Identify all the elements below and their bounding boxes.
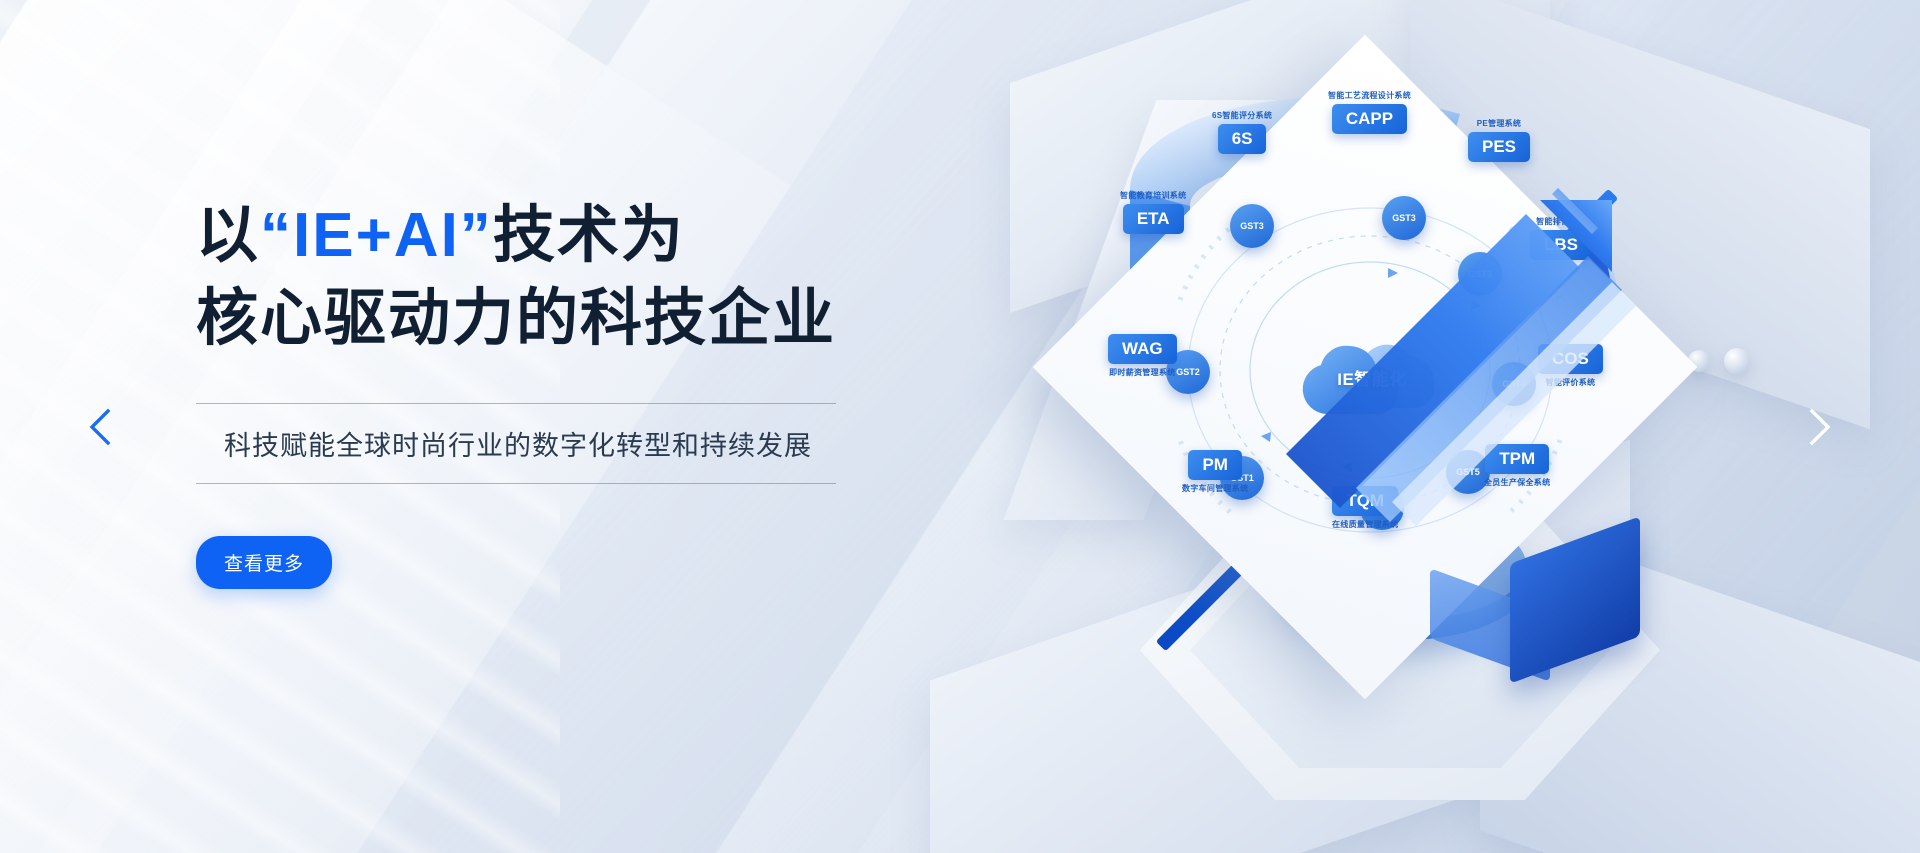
headline-accent: “IE+AI” [260, 201, 493, 270]
hero-content: 以“IE+AI”技术为 核心驱动力的科技企业 科技赋能全球时尚行业的数字化转型和… [196, 196, 996, 589]
chevron-right-icon [1802, 405, 1836, 449]
hero-illustration: GST3 GST3 GST3 GST4 GST5 GST6 GST1 GST2 [1080, 70, 1840, 790]
module-6s[interactable]: 6S智能评分系统 6S [1212, 110, 1272, 154]
module-code: PM [1188, 450, 1242, 480]
headline-suffix: 技术为 [493, 201, 685, 270]
module-code: 6S [1218, 124, 1267, 154]
module-caption: PE管理系统 [1468, 118, 1530, 129]
page-subtitle-heading: 核心驱动力的科技企业 [196, 279, 996, 358]
module-code: PES [1468, 132, 1530, 162]
module-caption: 智能工艺流程设计系统 [1328, 90, 1411, 101]
module-code: CAPP [1332, 104, 1407, 134]
hero-subtitle: 科技赋能全球时尚行业的数字化转型和持续发展 [196, 404, 996, 483]
module-caption: 6S智能评分系统 [1212, 110, 1272, 121]
headline-prefix: 以 [196, 201, 260, 270]
carousel-prev-button[interactable] [78, 404, 124, 450]
module-capp[interactable]: 智能工艺流程设计系统 CAPP [1328, 90, 1411, 134]
carousel-next-button[interactable] [1796, 404, 1842, 450]
module-eta[interactable]: 智能教育培训系统 ETA [1120, 190, 1186, 234]
module-code: ETA [1123, 204, 1184, 234]
hero-banner: GST3 GST3 GST3 GST4 GST5 GST6 GST1 GST2 [0, 0, 1920, 853]
arrow-beam [1240, 170, 1720, 630]
module-caption: 数字车间管理系统 [1182, 483, 1248, 494]
view-more-button[interactable]: 查看更多 [196, 536, 332, 589]
subtitle-block: 科技赋能全球时尚行业的数字化转型和持续发展 [196, 403, 996, 484]
module-caption: 即时薪资管理系统 [1108, 367, 1177, 378]
module-pes[interactable]: PE管理系统 PES [1468, 118, 1530, 162]
page-title: 以“IE+AI”技术为 [196, 196, 996, 275]
chevron-left-icon [84, 405, 118, 449]
module-wag[interactable]: WAG 即时薪资管理系统 [1108, 334, 1177, 378]
divider-bottom [196, 483, 836, 484]
module-pm[interactable]: PM 数字车间管理系统 [1182, 450, 1248, 494]
module-code: WAG [1108, 334, 1177, 364]
divider-top [196, 403, 836, 404]
module-caption: 智能教育培训系统 [1120, 190, 1186, 201]
